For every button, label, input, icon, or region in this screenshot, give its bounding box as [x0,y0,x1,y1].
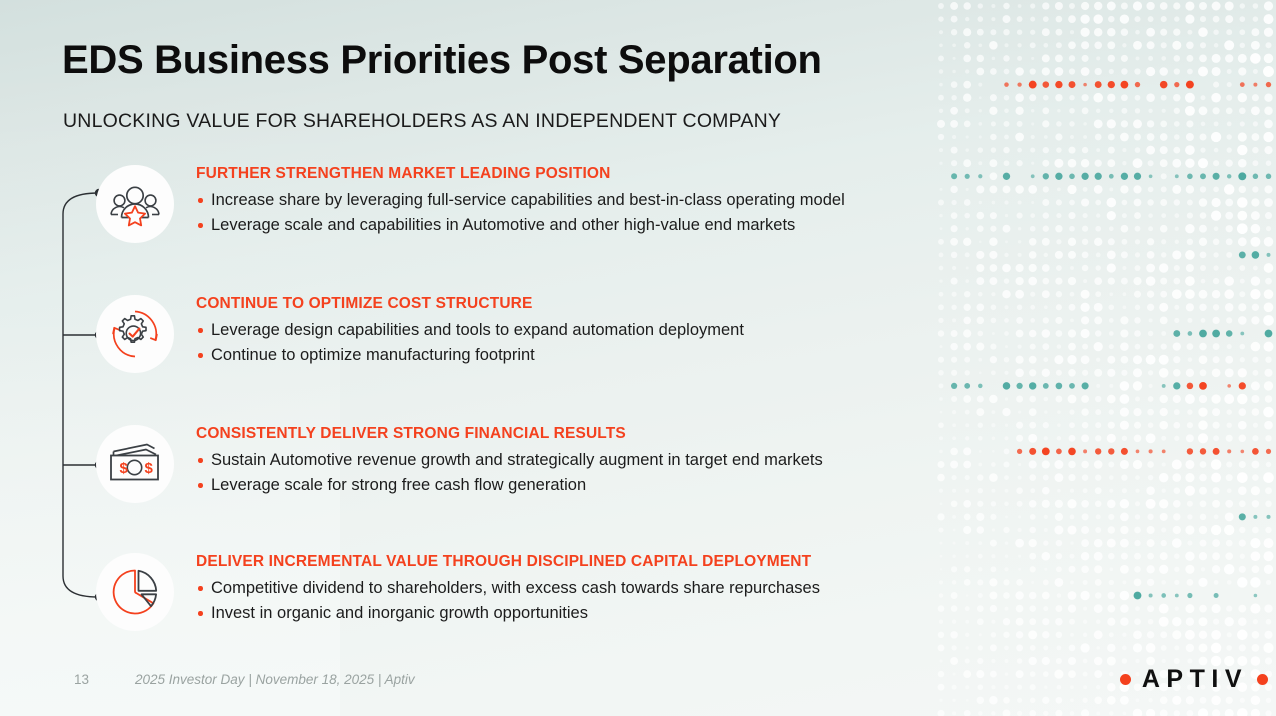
priority-heading: FURTHER STRENGTHEN MARKET LEADING POSITI… [196,165,845,183]
priority-text-block: DELIVER INCREMENTAL VALUE THROUGH DISCIP… [196,553,820,626]
priority-bullet-list: Increase share by leveraging full-servic… [196,188,845,238]
priority-text-block: CONSISTENTLY DELIVER STRONG FINANCIAL RE… [196,425,823,498]
priority-row: FURTHER STRENGTHEN MARKET LEADING POSITI… [0,165,1000,261]
priority-heading: CONTINUE TO OPTIMIZE COST STRUCTURE [196,295,744,313]
priority-icon-circle: $ $ [96,425,174,503]
priority-icon-circle [96,165,174,243]
banknotes-icon: $ $ [106,435,164,493]
page-subtitle: UNLOCKING VALUE FOR SHAREHOLDERS AS AN I… [63,110,781,133]
page-title: EDS Business Priorities Post Separation [62,38,822,83]
priority-icon-circle [96,553,174,631]
pie-chart-icon [107,564,163,620]
priority-row: CONTINUE TO OPTIMIZE COST STRUCTURE Leve… [0,295,1000,391]
priority-heading: CONSISTENTLY DELIVER STRONG FINANCIAL RE… [196,425,823,443]
priority-row: DELIVER INCREMENTAL VALUE THROUGH DISCIP… [0,553,1000,649]
bullet-item: Invest in organic and inorganic growth o… [196,601,820,626]
priority-icon-circle [96,295,174,373]
logo-wordmark: APTIV [1140,665,1248,694]
priority-bullet-list: Competitive dividend to shareholders, wi… [196,576,820,626]
people-star-icon [107,176,163,232]
gear-check-cycle-icon [107,306,163,362]
logo-dot-right-icon [1257,674,1268,685]
priority-text-block: CONTINUE TO OPTIMIZE COST STRUCTURE Leve… [196,295,744,368]
aptiv-logo: APTIV [1120,665,1268,694]
bullet-item: Increase share by leveraging full-servic… [196,188,845,213]
priority-row: $ $ CONSISTENTLY DELIVER STRONG FINANCIA… [0,425,1000,521]
bullet-item: Leverage design capabilities and tools t… [196,318,744,343]
svg-text:$: $ [120,460,129,477]
bullet-item: Competitive dividend to shareholders, wi… [196,576,820,601]
priority-bullet-list: Leverage design capabilities and tools t… [196,318,744,368]
slide: EDS Business Priorities Post Separation … [0,0,1276,716]
footer-meta-text: 2025 Investor Day | November 18, 2025 | … [135,672,415,687]
logo-dot-left-icon [1120,674,1131,685]
priority-bullet-list: Sustain Automotive revenue growth and st… [196,448,823,498]
bullet-item: Sustain Automotive revenue growth and st… [196,448,823,473]
page-number: 13 [74,672,89,687]
priority-text-block: FURTHER STRENGTHEN MARKET LEADING POSITI… [196,165,845,238]
svg-text:$: $ [145,460,154,477]
bullet-item: Leverage scale for strong free cash flow… [196,473,823,498]
bullet-item: Leverage scale and capabilities in Autom… [196,213,845,238]
bullet-item: Continue to optimize manufacturing footp… [196,343,744,368]
priority-heading: DELIVER INCREMENTAL VALUE THROUGH DISCIP… [196,553,820,571]
